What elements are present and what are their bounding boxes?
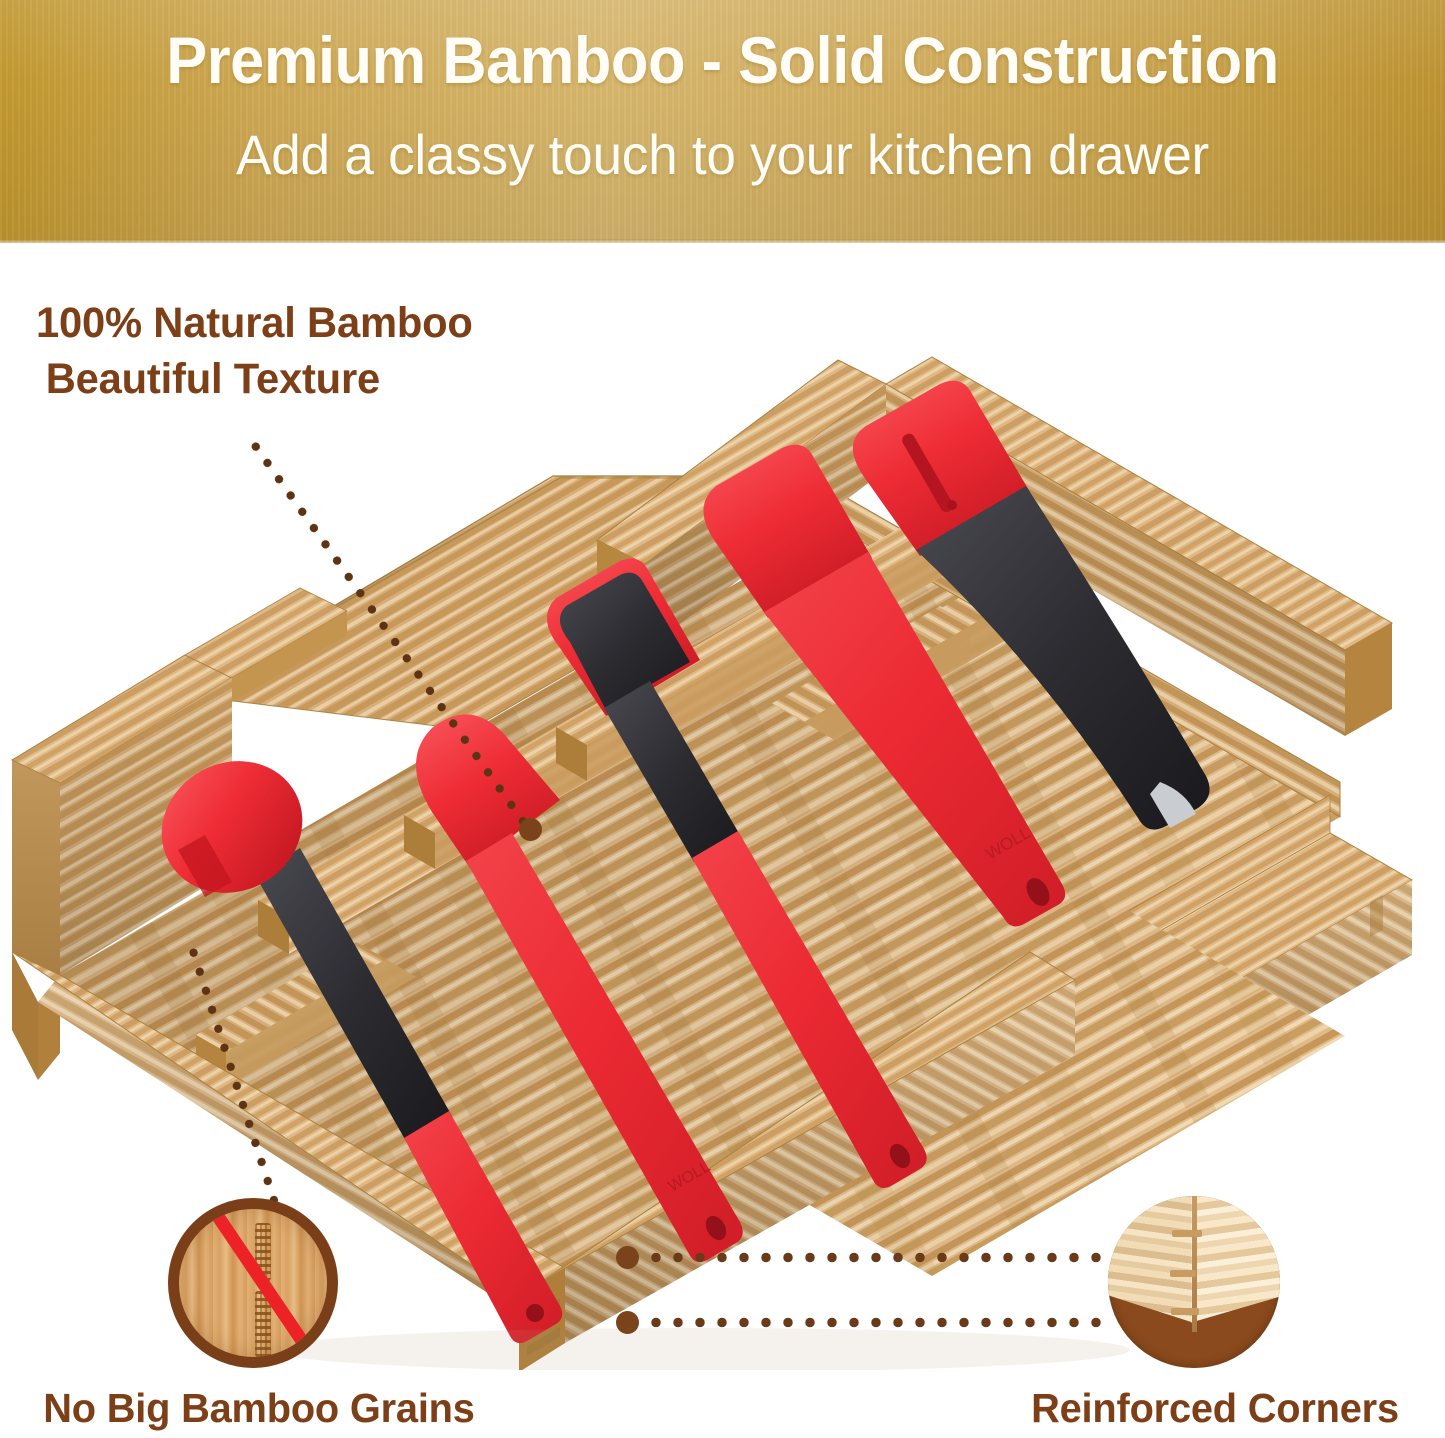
callout-line-1: 100% Natural Bamboo bbox=[36, 299, 473, 347]
infographic-canvas: Premium Bamboo - Solid Construction Add … bbox=[0, 0, 1445, 1438]
corner-notch bbox=[1170, 1270, 1196, 1277]
feature-caption-reinforced-corners: Reinforced Corners bbox=[1006, 1385, 1423, 1432]
leader-line-corner-upper bbox=[645, 1251, 1110, 1264]
leader-line-corner-lower bbox=[645, 1316, 1110, 1329]
banner-title: Premium Bamboo - Solid Construction bbox=[51, 26, 1395, 95]
banner-bottom-edge bbox=[0, 239, 1445, 243]
callout-natural-bamboo: 100% Natural Bamboo Beautiful Texture bbox=[36, 296, 657, 408]
leader-anchor-corner-lower bbox=[616, 1311, 639, 1334]
feature-caption-no-big-bamboo-grains: No Big Bamboo Grains bbox=[21, 1385, 496, 1432]
bamboo-grain-crossed-out-icon bbox=[168, 1198, 338, 1368]
corner-joint-art bbox=[1108, 1196, 1280, 1368]
corner-face-right bbox=[1191, 1196, 1280, 1323]
corner-notch bbox=[1171, 1308, 1199, 1315]
wood-corner-joint-icon bbox=[1108, 1196, 1280, 1368]
corner-face-left bbox=[1108, 1196, 1193, 1323]
callout-line-2: Beautiful Texture bbox=[36, 352, 657, 408]
corner-notch bbox=[1172, 1230, 1202, 1237]
header-banner: Premium Bamboo - Solid Construction Add … bbox=[0, 0, 1445, 243]
leader-anchor-corner-upper bbox=[616, 1246, 639, 1269]
leader-anchor-texture bbox=[519, 818, 542, 841]
banner-subtitle: Add a classy touch to your kitchen drawe… bbox=[36, 126, 1409, 185]
